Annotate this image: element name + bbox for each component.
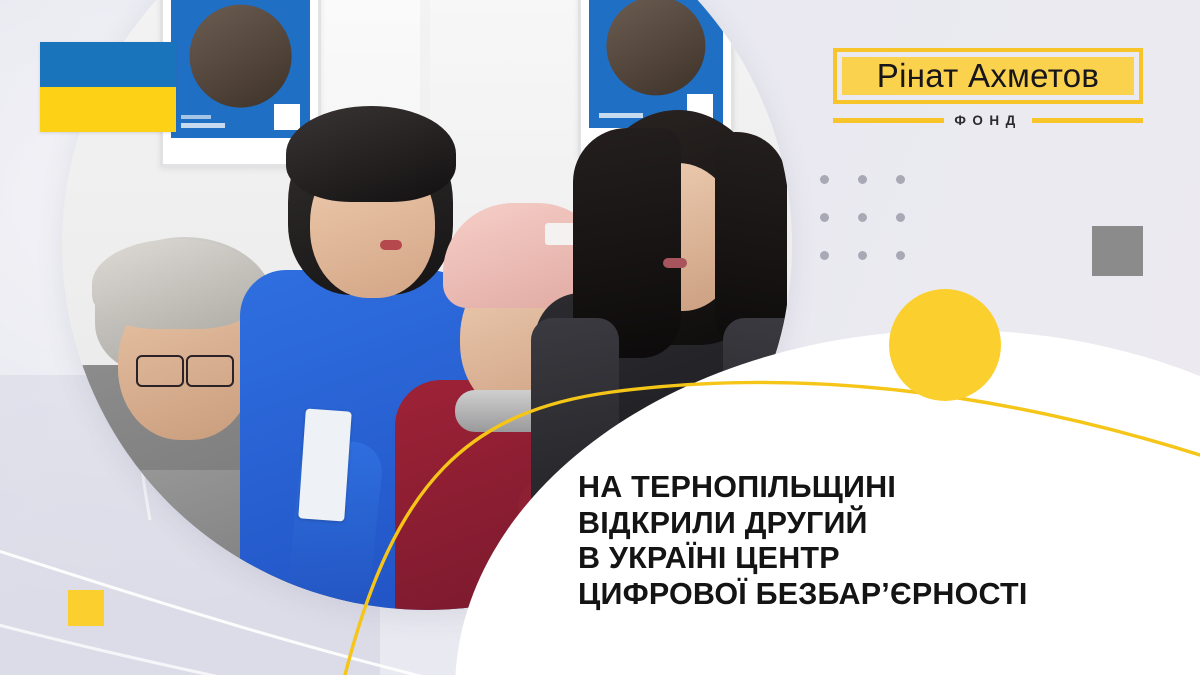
headline-line-2: ВІДКРИЛИ ДРУГИЙ bbox=[578, 506, 1188, 542]
flag-blue-stripe bbox=[40, 42, 176, 87]
yellow-square-accent bbox=[68, 590, 104, 626]
logo-bar-right bbox=[1032, 118, 1143, 123]
grid-dot bbox=[858, 251, 867, 260]
grid-dot bbox=[896, 175, 905, 184]
gray-square-accent bbox=[1092, 226, 1143, 276]
grid-dot bbox=[820, 213, 829, 222]
grid-dot bbox=[896, 213, 905, 222]
logo-subtitle: ФОНД bbox=[954, 113, 1021, 128]
ukraine-flag bbox=[40, 42, 176, 132]
grid-dot bbox=[858, 213, 867, 222]
foundation-logo[interactable]: Рінат Ахметов ФОНД bbox=[833, 48, 1143, 128]
yellow-circle-accent bbox=[889, 289, 1001, 401]
dot-grid bbox=[820, 175, 934, 289]
headline-line-1: НА ТЕРНОПІЛЬЩИНІ bbox=[578, 470, 1188, 506]
grid-dot bbox=[896, 251, 905, 260]
grid-dot bbox=[820, 175, 829, 184]
logo-bar-left bbox=[833, 118, 944, 123]
grid-dot bbox=[858, 175, 867, 184]
headline: НА ТЕРНОПІЛЬЩИНІ ВІДКРИЛИ ДРУГИЙ В УКРАЇ… bbox=[578, 470, 1188, 612]
logo-subtitle-row: ФОНД bbox=[833, 113, 1143, 128]
logo-name: Рінат Ахметов bbox=[877, 57, 1099, 95]
headline-line-3: В УКРАЇНІ ЦЕНТР bbox=[578, 541, 1188, 577]
logo-box: Рінат Ахметов bbox=[833, 48, 1143, 104]
poster-canvas: Рінат Ахметов ФОНД НА ТЕРНОПІЛЬЩИНІ ВІДК… bbox=[0, 0, 1200, 675]
grid-dot bbox=[820, 251, 829, 260]
headline-line-4: ЦИФРОВОЇ БЕЗБАР’ЄРНОСТІ bbox=[578, 577, 1188, 613]
flag-yellow-stripe bbox=[40, 87, 176, 132]
